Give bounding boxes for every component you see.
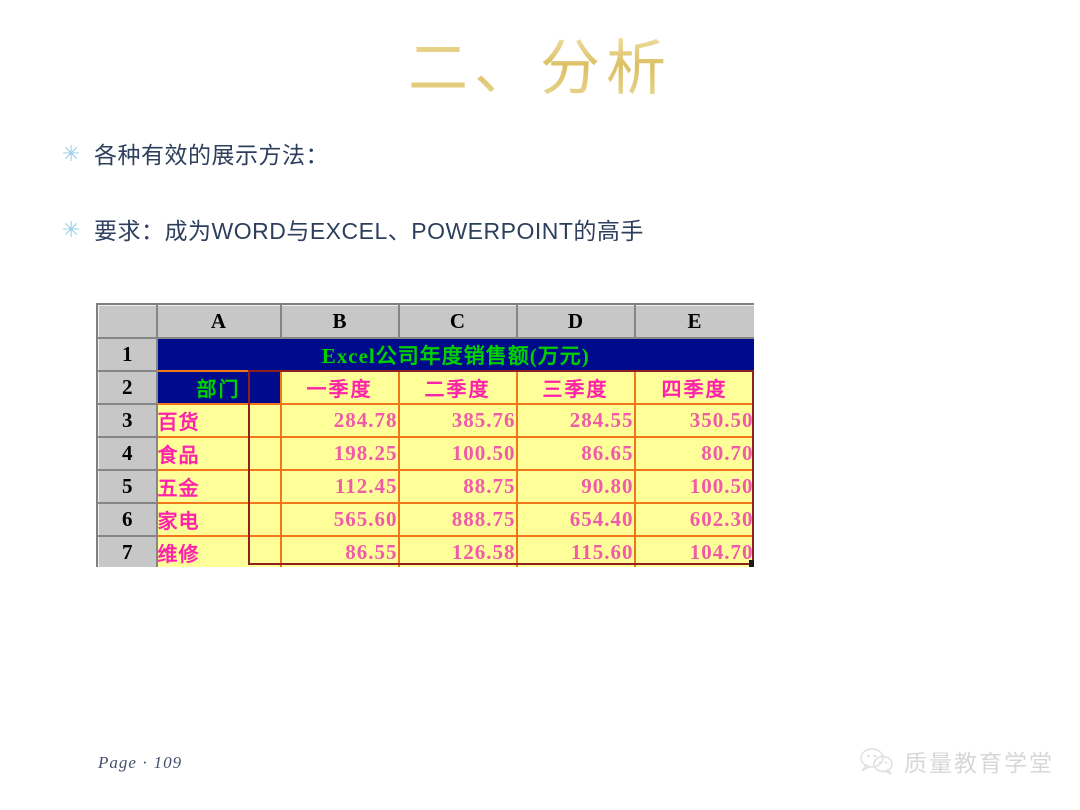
data-cell-q2[interactable]: 100.50 — [399, 437, 517, 470]
data-cell-q2[interactable]: 88.75 — [399, 470, 517, 503]
wechat-icon — [860, 747, 894, 775]
data-cell-q2[interactable]: 126.58 — [399, 536, 517, 567]
data-cell-q1[interactable]: 198.25 — [281, 437, 399, 470]
excel-spreadsheet: A B C D E 1 Excel公司年度销售额(万元) 2 部门 一季度 二季… — [98, 305, 754, 567]
table-header-q3[interactable]: 三季度 — [517, 371, 635, 404]
row-header-5[interactable]: 5 — [99, 470, 157, 503]
page-footer: Page·109 — [98, 753, 182, 773]
table-row: 7 维修 86.55 126.58 115.60 104.70 — [99, 536, 755, 567]
table-header-q4[interactable]: 四季度 — [635, 371, 755, 404]
data-cell-dept[interactable]: 家电 — [157, 503, 281, 536]
row-header-2[interactable]: 2 — [99, 371, 157, 404]
fill-handle[interactable] — [749, 560, 754, 567]
data-cell-q1[interactable]: 284.78 — [281, 404, 399, 437]
data-cell-q4[interactable]: 100.50 — [635, 470, 755, 503]
table-row: 1 Excel公司年度销售额(万元) — [99, 338, 755, 371]
table-row: 2 部门 一季度 二季度 三季度 四季度 — [99, 371, 755, 404]
column-header-a[interactable]: A — [157, 306, 281, 339]
data-cell-dept[interactable]: 维修 — [157, 536, 281, 567]
row-header-3[interactable]: 3 — [99, 404, 157, 437]
excel-screenshot: A B C D E 1 Excel公司年度销售额(万元) 2 部门 一季度 二季… — [96, 303, 754, 567]
data-cell-q3[interactable]: 86.65 — [517, 437, 635, 470]
table-header-q2[interactable]: 二季度 — [399, 371, 517, 404]
table-header-dept[interactable]: 部门 — [157, 371, 281, 404]
table-row: 3 百货 284.78 385.76 284.55 350.50 — [99, 404, 755, 437]
row-header-4[interactable]: 4 — [99, 437, 157, 470]
sheet-title-cell[interactable]: Excel公司年度销售额(万元) — [157, 338, 755, 371]
data-cell-q4[interactable]: 80.70 — [635, 437, 755, 470]
row-header-1[interactable]: 1 — [99, 338, 157, 371]
column-header-e[interactable]: E — [635, 306, 755, 339]
data-cell-q4[interactable]: 602.30 — [635, 503, 755, 536]
data-cell-dept[interactable]: 五金 — [157, 470, 281, 503]
select-all-corner[interactable] — [99, 306, 157, 339]
page-title: 二、分析 — [0, 34, 1080, 104]
data-cell-q4[interactable]: 104.70 — [635, 536, 755, 567]
asterisk-bullet-icon: ✳ — [62, 214, 94, 248]
data-cell-q1[interactable]: 565.60 — [281, 503, 399, 536]
data-cell-q2[interactable]: 888.75 — [399, 503, 517, 536]
bullet-item-2: ✳ 要求：成为WORD与EXCEL、POWERPOINT的高手 — [62, 214, 644, 248]
data-cell-q1[interactable]: 112.45 — [281, 470, 399, 503]
table-row: 4 食品 198.25 100.50 86.65 80.70 — [99, 437, 755, 470]
watermark-text: 质量教育学堂 — [904, 744, 1054, 778]
data-cell-q4[interactable]: 350.50 — [635, 404, 755, 437]
table-row: 5 五金 112.45 88.75 90.80 100.50 — [99, 470, 755, 503]
page-label: Page — [98, 753, 137, 772]
row-header-7[interactable]: 7 — [99, 536, 157, 567]
column-header-b[interactable]: B — [281, 306, 399, 339]
data-cell-q1[interactable]: 86.55 — [281, 536, 399, 567]
data-cell-q3[interactable]: 654.40 — [517, 503, 635, 536]
table-row: 6 家电 565.60 888.75 654.40 602.30 — [99, 503, 755, 536]
page-separator: · — [137, 753, 154, 772]
page-number: 109 — [154, 753, 183, 772]
bullet-text-2: 要求：成为WORD与EXCEL、POWERPOINT的高手 — [94, 214, 644, 248]
column-header-d[interactable]: D — [517, 306, 635, 339]
row-header-6[interactable]: 6 — [99, 503, 157, 536]
bullet-item-1: ✳ 各种有效的展示方法： — [62, 138, 329, 172]
watermark: 质量教育学堂 — [860, 744, 1054, 778]
data-cell-dept[interactable]: 食品 — [157, 437, 281, 470]
data-cell-dept[interactable]: 百货 — [157, 404, 281, 437]
data-cell-q3[interactable]: 284.55 — [517, 404, 635, 437]
data-cell-q3[interactable]: 90.80 — [517, 470, 635, 503]
column-header-c[interactable]: C — [399, 306, 517, 339]
column-header-row: A B C D E — [99, 306, 755, 339]
data-cell-q3[interactable]: 115.60 — [517, 536, 635, 567]
asterisk-bullet-icon: ✳ — [62, 138, 94, 172]
table-header-q1[interactable]: 一季度 — [281, 371, 399, 404]
bullet-text-1: 各种有效的展示方法： — [94, 138, 329, 172]
data-cell-q2[interactable]: 385.76 — [399, 404, 517, 437]
